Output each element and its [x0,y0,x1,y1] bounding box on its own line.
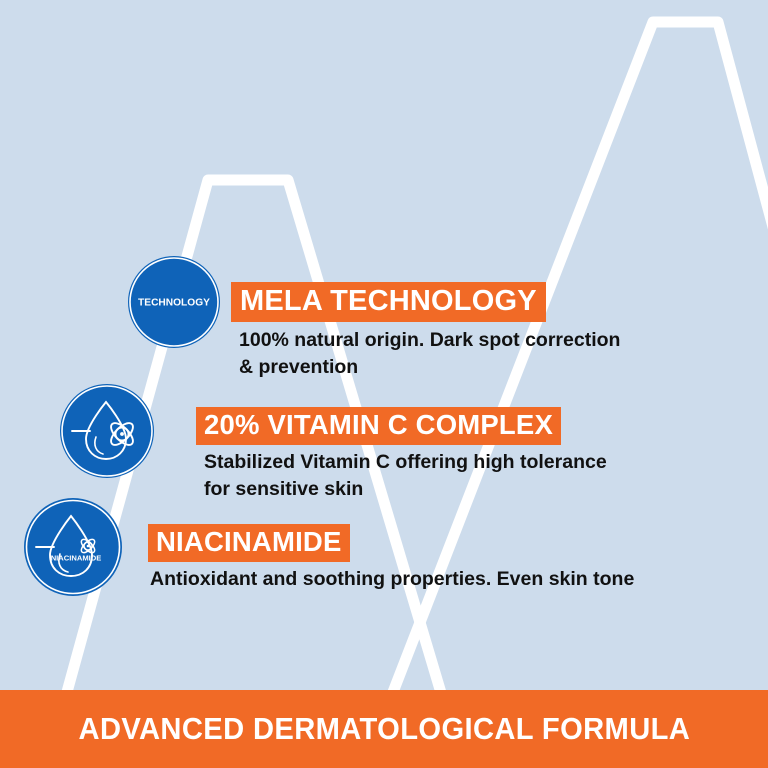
feature-vitamin-c-badge: 20% VITAMIN C COMPLEX [196,407,561,445]
niacinamide-icon-label: NIACINAMIDE [51,554,102,563]
feature-niacinamide-badge: NIACINAMIDE [148,524,350,562]
feature-vitamin-c-complex: 20% VITAMIN C COMPLEX Stabilized Vitamin… [196,407,607,503]
droplet-atom-icon [60,384,154,478]
product-claims-poster: TECHNOLOGY [0,0,768,768]
technology-icon-label: TECHNOLOGY [138,298,210,309]
technology-circle-icon: TECHNOLOGY [128,256,220,348]
bottom-banner: ADVANCED DERMATOLOGICAL FORMULA [0,690,768,768]
droplet-niacinamide-icon: NIACINAMIDE [24,498,122,596]
feature-niacinamide: NIACINAMIDE Antioxidant and soothing pro… [148,524,634,593]
feature-niacinamide-description: Antioxidant and soothing properties. Eve… [150,566,634,593]
bottom-banner-text: ADVANCED DERMATOLOGICAL FORMULA [78,711,690,747]
feature-vitamin-c-description: Stabilized Vitamin C offering high toler… [204,449,607,503]
feature-mela-technology: MELA TECHNOLOGY 100% natural origin. Dar… [231,282,620,381]
feature-mela-badge: MELA TECHNOLOGY [231,282,546,322]
feature-mela-description: 100% natural origin. Dark spot correctio… [239,327,620,381]
